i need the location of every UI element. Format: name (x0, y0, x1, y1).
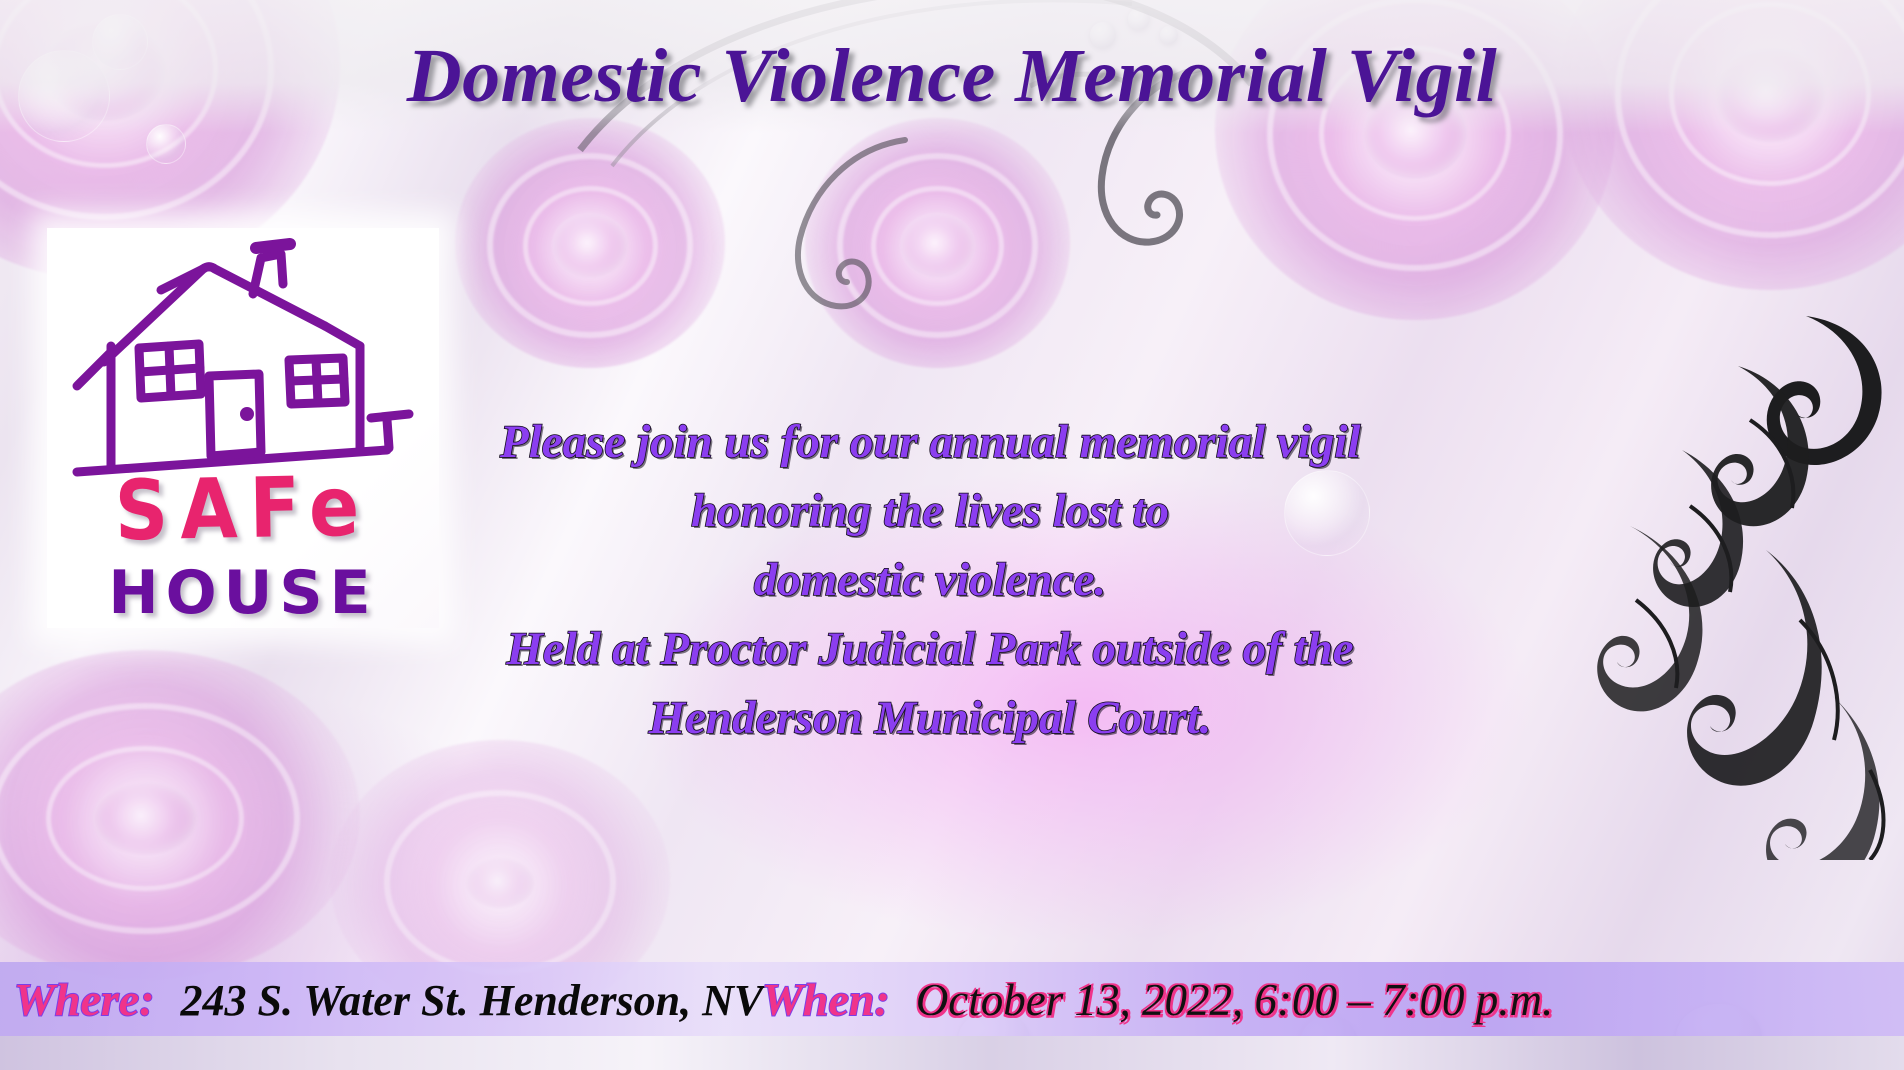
info-banner: Where: 243 S. Water St. Henderson, NV Wh… (0, 962, 1904, 1036)
logo-safe-text: SAFe (46, 457, 439, 561)
bottom-sheen-strip (0, 1036, 1904, 1070)
page-title: Domestic Violence Memorial Vigil (0, 34, 1904, 118)
flyer-canvas: Domestic Violence Memorial Vigil (0, 0, 1904, 1070)
hand-drawn-house-icon (57, 234, 429, 482)
rose-decoration-center-left (455, 118, 725, 368)
logo-house-text: HOUSE (47, 558, 439, 628)
body-line: Henderson Municipal Court. (500, 684, 1360, 753)
when-value: October 13, 2022, 6:00 – 7:00 p.m. (916, 974, 1553, 1026)
where-group: Where: 243 S. Water St. Henderson, NV (14, 973, 763, 1026)
body-line: Please join us for our annual memorial v… (500, 408, 1360, 477)
where-value: 243 S. Water St. Henderson, NV (181, 975, 764, 1026)
body-line: Held at Proctor Judicial Park outside of… (500, 615, 1360, 684)
when-label: When: (762, 973, 890, 1026)
rose-decoration-center (805, 118, 1070, 368)
where-label: Where: (14, 973, 155, 1026)
when-group: When: October 13, 2022, 6:00 – 7:00 p.m. (762, 973, 1553, 1026)
body-line: honoring the lives lost to (500, 477, 1360, 546)
rose-decoration-bottom-left (0, 650, 360, 980)
spiral-swoosh-decoration (700, 130, 930, 360)
safe-house-logo: SAFe HOUSE (47, 228, 439, 628)
body-copy: Please join us for our annual memorial v… (500, 408, 1360, 753)
filigree-flourish-icon (1570, 300, 1900, 860)
body-line: domestic violence. (500, 546, 1360, 615)
